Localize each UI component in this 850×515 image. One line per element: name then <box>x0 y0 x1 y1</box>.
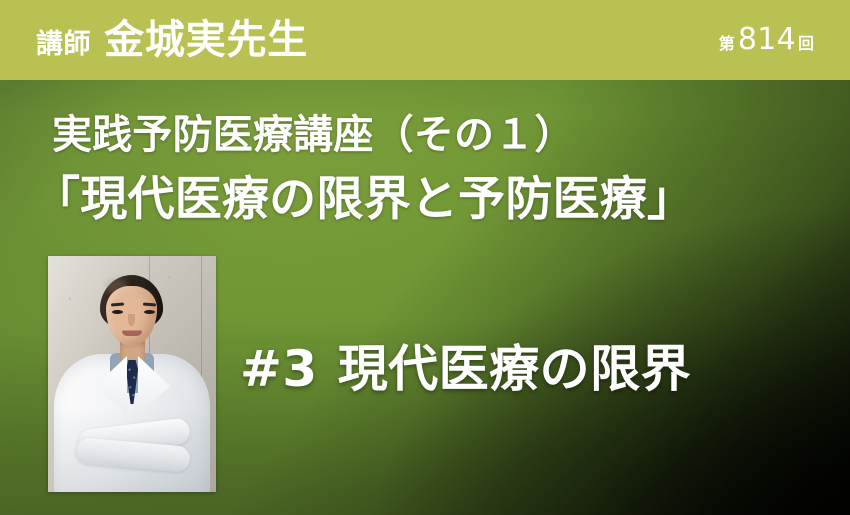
episode-number: #3 <box>240 340 318 398</box>
episode-title-block: #3現代医療の限界 <box>240 344 691 394</box>
nose <box>128 314 135 326</box>
series-title-block: 実践予防医療講座（その１） 「現代医療の限界と予防医療」 <box>0 80 850 223</box>
eye-right <box>144 310 155 314</box>
episode-counter: 第 814 回 <box>719 25 814 55</box>
episode-title: 現代医療の限界 <box>338 340 692 398</box>
doctor-figure <box>48 256 216 492</box>
lecture-title-card: 講師 金城実先生 第 814 回 実践予防医療講座（その１） 「現代医療の限界と… <box>0 0 850 515</box>
episode-counter-suffix: 回 <box>798 36 814 52</box>
header-bar: 講師 金城実先生 第 814 回 <box>0 0 850 80</box>
instructor-photo <box>48 256 216 492</box>
instructor-name: 金城実先生 <box>104 20 308 60</box>
mouth <box>122 331 142 336</box>
instructor-label: 講師 <box>36 31 91 58</box>
series-title-line1: 実践予防医療講座（その１） <box>52 115 850 155</box>
episode-counter-prefix: 第 <box>719 36 735 52</box>
episode-counter-number: 814 <box>738 25 796 55</box>
eye-left <box>112 310 123 314</box>
series-title-line2: 「現代医療の限界と予防医療」 <box>33 176 850 223</box>
instructor-block: 講師 金城実先生 <box>36 20 308 60</box>
